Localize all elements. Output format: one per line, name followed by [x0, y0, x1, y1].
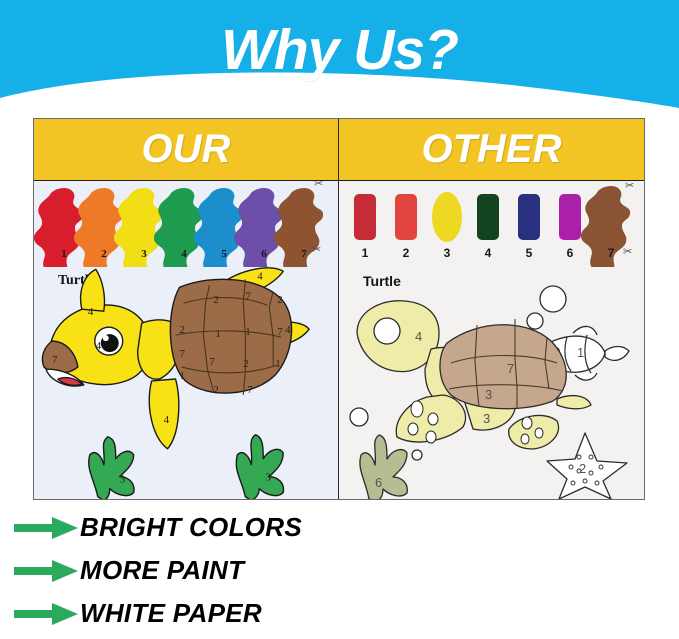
list-item: WHITE PAPER: [0, 592, 679, 635]
list-item: MORE PAINT: [0, 549, 679, 592]
svg-text:4: 4: [257, 270, 263, 282]
svg-text:4: 4: [96, 340, 102, 352]
svg-text:2: 2: [213, 294, 218, 306]
svg-text:2: 2: [180, 324, 185, 336]
svg-text:1: 1: [275, 358, 280, 370]
svg-text:4: 4: [88, 306, 94, 318]
artwork-other-turtle: 4 7 3 3 1 2 6: [339, 257, 644, 499]
svg-text:3: 3: [483, 411, 490, 426]
svg-text:2: 2: [579, 461, 586, 476]
svg-text:7: 7: [245, 290, 251, 302]
list-item: BRIGHT COLORS: [0, 506, 679, 549]
svg-text:7: 7: [209, 356, 215, 368]
svg-text:1: 1: [215, 328, 220, 340]
scissors-icon-bottom: ✂: [312, 243, 321, 256]
svg-text:1: 1: [577, 345, 584, 360]
svg-text:1: 1: [245, 326, 250, 338]
swatch-row-our: 1234567 ✂ ✂: [34, 181, 338, 267]
svg-text:4: 4: [164, 414, 170, 426]
artwork-our-turtle: 4 4 7 2 7 1 2 1 7 1 2 2 7 1 7: [34, 257, 338, 499]
paint-swatch-our-6: [234, 188, 283, 267]
svg-text:7: 7: [507, 361, 514, 376]
panel-our: OUR 1234567 ✂ ✂ Turtle: [34, 119, 339, 499]
page-title: Why Us?: [0, 18, 679, 82]
panel-other-header: OTHER: [339, 119, 644, 181]
svg-text:4: 4: [285, 324, 291, 336]
svg-text:3: 3: [485, 387, 492, 402]
panel-other-body: 1234567 ✂ ✂ Turtle: [339, 181, 644, 499]
svg-text:3: 3: [265, 472, 271, 484]
scissors-icon-top: ✂: [314, 181, 323, 190]
paint-swatch-our-5: [194, 188, 243, 267]
paint-swatch-other-4: [477, 194, 499, 240]
header-banner: Why Us?: [0, 0, 679, 118]
panel-other: OTHER 1234567 ✂ ✂ Turtle: [339, 119, 644, 499]
benefit-label-white-paper: WHITE PAPER: [80, 598, 262, 629]
paint-swatch-our-3: [114, 188, 163, 267]
svg-text:4: 4: [415, 329, 422, 344]
benefit-label-bright-colors: BRIGHT COLORS: [80, 512, 302, 543]
paint-swatch-other-2: [395, 194, 417, 240]
svg-text:1: 1: [180, 370, 185, 382]
benefit-label-more-paint: MORE PAINT: [80, 555, 244, 586]
arrow-right-icon: [14, 603, 80, 625]
swatch-row-other: 1234567 ✂ ✂: [339, 181, 644, 267]
svg-text:7: 7: [277, 326, 283, 338]
svg-text:7: 7: [52, 354, 58, 366]
paint-swatch-other-1: [354, 194, 376, 240]
paint-swatch-other-3: [432, 192, 462, 242]
paint-blobs-our: 1234567: [34, 181, 338, 267]
svg-text:2: 2: [243, 358, 248, 370]
panel-our-header: OUR: [34, 119, 338, 181]
svg-text:7: 7: [247, 384, 253, 396]
panel-other-label: OTHER: [422, 127, 562, 172]
paint-swatch-our-2: [74, 188, 123, 267]
panel-our-body: 1234567 ✂ ✂ Turtle: [34, 181, 338, 499]
benefit-list: BRIGHT COLORS MORE PAINT WHITE PAPER: [0, 506, 679, 639]
panel-our-label: OUR: [142, 127, 231, 172]
svg-text:3: 3: [120, 474, 126, 486]
comparison-panels: OUR 1234567 ✂ ✂ Turtle: [33, 118, 645, 500]
svg-text:2: 2: [213, 384, 218, 396]
paint-swatch-other-5: [518, 194, 540, 240]
paint-swatch-our-4: [154, 188, 203, 267]
paint-blobs-other: 1234567: [339, 181, 644, 267]
arrow-right-icon: [14, 560, 80, 582]
promo-graphic: Why Us? OUR 1234567 ✂ ✂ Turtle: [0, 0, 679, 639]
paint-swatch-other-6: [559, 194, 581, 240]
svg-text:2: 2: [277, 294, 282, 306]
paint-swatch-our-1: [34, 188, 83, 267]
svg-text:6: 6: [375, 475, 382, 490]
svg-text:7: 7: [180, 348, 186, 360]
scissors-icon-top: ✂: [625, 181, 634, 192]
arrow-right-icon: [14, 517, 80, 539]
